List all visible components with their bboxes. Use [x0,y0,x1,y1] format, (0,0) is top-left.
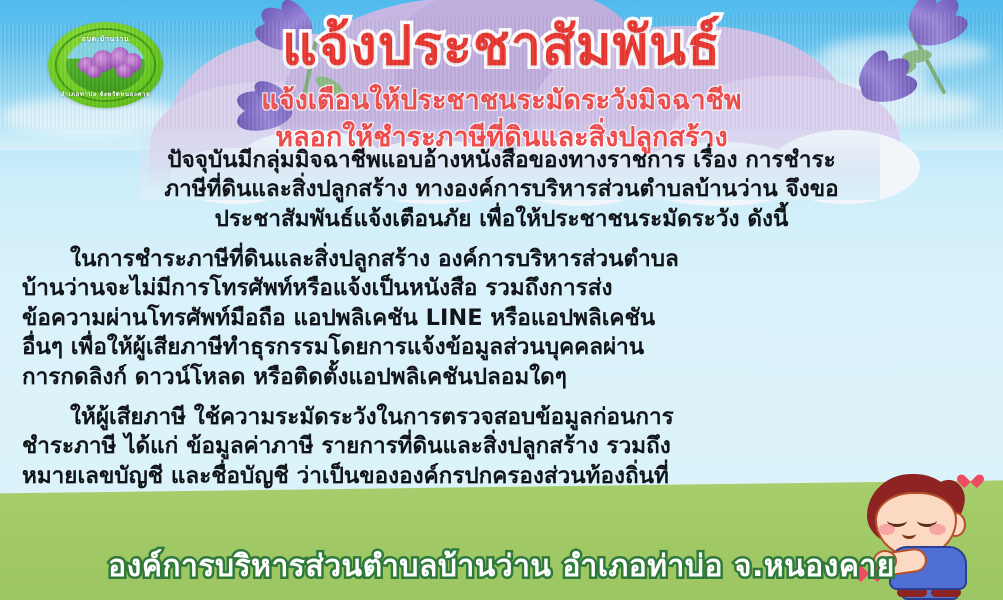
body-line: ให้ผู้เสียภาษี ใช้ความระมัดระวังในการตรว… [22,403,981,432]
heart-icon [963,472,979,487]
body-line: ปัจจุบันมีกลุ่มมิจฉาชีพแอบอ้างหนังสือของ… [22,146,981,175]
body-copy: ปัจจุบันมีกลุ่มมิจฉาชีพแอบอ้างหนังสือของ… [22,146,981,520]
announcement-poster: อบต.บ้านว่าน อำเภอท่าบ่อ จังหวัดหนองคาย … [0,0,1003,600]
body-line: ประชาสัมพันธ์แจ้งเตือนภัย เพื่อให้ประชาช… [22,205,981,234]
footer-container: องค์การบริหารส่วนตำบลบ้านว่าน อำเภอท่าบ่… [0,543,1003,590]
body-line: ในการชำระภาษีที่ดินและสิ่งปลูกสร้าง องค์… [22,245,981,274]
body-line: ข้อความผ่านโทรศัพท์มือถือ แอปพลิเคชัน LI… [22,304,981,333]
paragraph-spacer [22,392,981,403]
paragraph-spacer [22,234,981,245]
paragraph-1: ปัจจุบันมีกลุ่มมิจฉาชีพแอบอ้างหนังสือของ… [22,146,981,234]
body-line: อื่นๆ เพื่อให้ผู้เสียภาษีทำธุรกรรมโดยการ… [22,333,981,362]
body-line: ภาษีที่ดินและสิ่งปลูกสร้าง ทางองค์การบริ… [22,175,981,204]
body-line: บ้านว่านจะไม่มีการโทรศัพท์หรือแจ้งเป็นหน… [22,274,981,303]
footer-organization-name: องค์การบริหารส่วนตำบลบ้านว่าน อำเภอท่าบ่… [108,549,895,584]
paragraph-2: ในการชำระภาษีที่ดินและสิ่งปลูกสร้าง องค์… [22,245,981,392]
body-line: การกดลิงก์ ดาวน์โหลด หรือติดตั้งแอปพลิเค… [22,363,981,392]
body-line: ชำระภาษี ได้แก่ ข้อมูลค่าภาษี รายการที่ด… [22,432,981,461]
